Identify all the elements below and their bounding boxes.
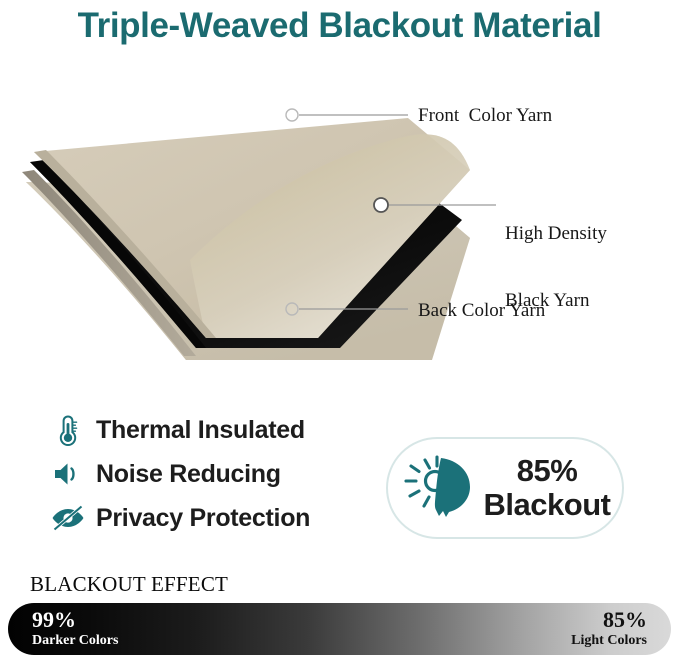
- feature-label-privacy-protection: Privacy Protection: [96, 504, 310, 533]
- darker-colors-percent: 99%: [32, 608, 118, 633]
- fabric-layers-diagram: Front Color Yarn High Density Black Yarn…: [0, 60, 679, 360]
- blackout-badge-text: 85% Blackout: [480, 455, 622, 521]
- blackout-effect-gradient-bar: 99% Darker Colors 85% Light Colors: [8, 603, 671, 655]
- blackout-effect-darker-colors: 99% Darker Colors: [32, 608, 118, 649]
- feature-item-noise-reducing: Noise Reducing: [48, 452, 368, 496]
- sun-behind-curtain-icon: [402, 453, 480, 523]
- eye-slash-icon: [48, 501, 88, 535]
- thermometer-icon: [48, 413, 88, 447]
- feature-label-thermal-insulated: Thermal Insulated: [96, 416, 305, 445]
- callout-label-front-color-yarn: Front Color Yarn: [418, 105, 552, 127]
- darker-colors-label: Darker Colors: [32, 633, 118, 649]
- callout-label-black-yarn-line1: High Density: [505, 223, 607, 245]
- light-colors-label: Light Colors: [571, 633, 647, 649]
- speaker-sound-icon: [48, 457, 88, 491]
- feature-list: Thermal Insulated Noise Reducing Privacy…: [48, 408, 368, 540]
- feature-item-thermal-insulated: Thermal Insulated: [48, 408, 368, 452]
- blackout-badge-word: Blackout: [480, 488, 614, 521]
- callout-front-color-yarn: [286, 109, 408, 121]
- callout-label-back-color-yarn: Back Color Yarn: [418, 300, 545, 322]
- page-title: Triple-Weaved Blackout Material: [0, 0, 679, 52]
- blackout-badge-percent: 85%: [480, 455, 614, 488]
- feature-item-privacy-protection: Privacy Protection: [48, 496, 368, 540]
- light-colors-percent: 85%: [571, 608, 647, 633]
- callout-label-black-yarn: High Density Black Yarn: [505, 178, 607, 357]
- blackout-effect-light-colors: 85% Light Colors: [571, 608, 647, 649]
- feature-label-noise-reducing: Noise Reducing: [96, 460, 281, 489]
- blackout-percentage-badge: 85% Blackout: [386, 437, 624, 539]
- blackout-effect-heading: BLACKOUT EFFECT: [30, 572, 228, 597]
